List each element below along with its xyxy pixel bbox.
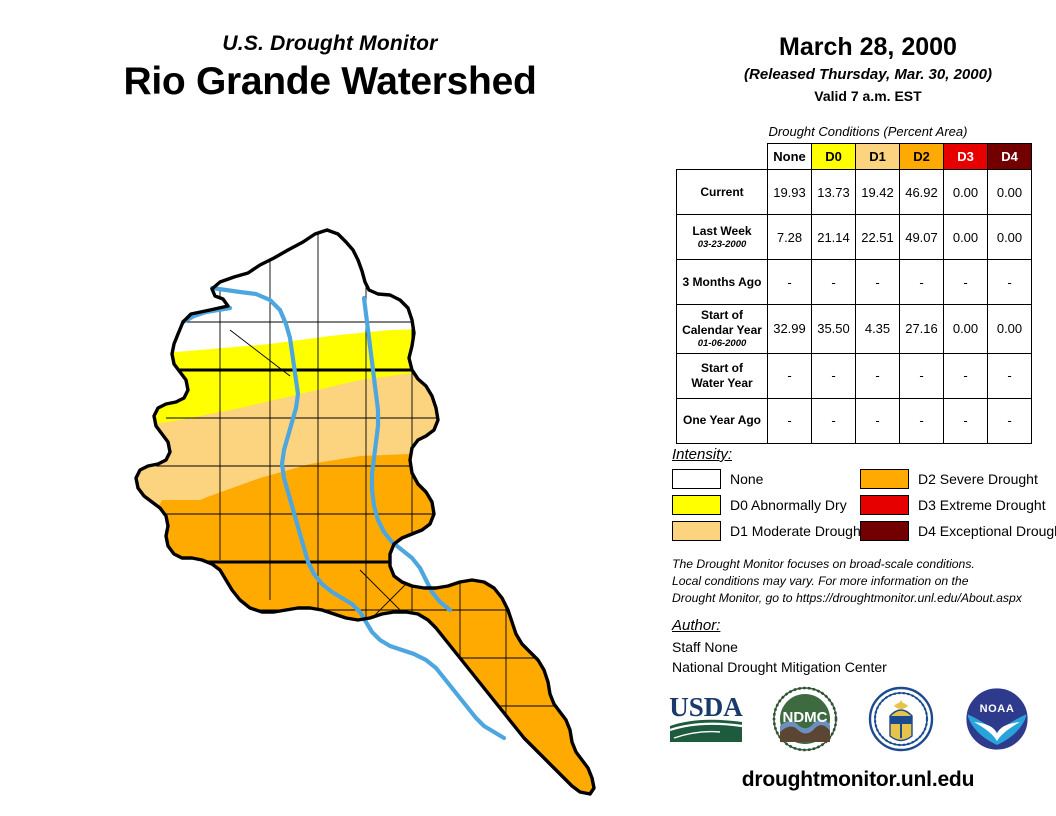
table-cell: 13.73	[812, 170, 856, 215]
legend-swatch	[860, 495, 909, 515]
table-cell: -	[768, 260, 812, 305]
site-url: droughtmonitor.unl.edu	[668, 768, 1048, 792]
table-cell: 35.50	[812, 305, 856, 354]
table-cell: 27.16	[900, 305, 944, 354]
row-label-line: One Year Ago	[679, 413, 765, 428]
author-organization: National Drought Mitigation Center	[672, 657, 887, 677]
row-label-line: Water Year	[679, 376, 765, 391]
table-cell: 0.00	[988, 305, 1032, 354]
row-label-line: Start of	[679, 308, 765, 323]
table-header-row: NoneD0D1D2D3D4	[677, 144, 1032, 170]
legend-label: None	[730, 471, 763, 487]
table-cell: 0.00	[988, 170, 1032, 215]
logo-strip: USDA NDMC	[668, 686, 1048, 758]
row-label-line: Calendar Year	[679, 323, 765, 338]
table-body: Current19.9313.7319.4246.920.000.00Last …	[677, 170, 1032, 444]
table-cell: -	[856, 260, 900, 305]
table-row-label: Last Week03-23-2000	[677, 215, 768, 260]
table-cell: 32.99	[768, 305, 812, 354]
disclaimer-line-3: Drought Monitor, go to https://droughtmo…	[672, 590, 1022, 607]
svg-text:NDMC: NDMC	[783, 709, 828, 726]
legend-swatch	[860, 469, 909, 489]
table-cell: 19.42	[856, 170, 900, 215]
table-cell: -	[988, 398, 1032, 443]
table-cell: -	[856, 353, 900, 398]
table-cell: -	[900, 398, 944, 443]
table-row-label: One Year Ago	[677, 398, 768, 443]
row-sublabel: 03-23-2000	[679, 239, 765, 251]
legend-label: D3 Extreme Drought	[918, 497, 1046, 513]
table-cell: -	[856, 398, 900, 443]
table-col-header-d0: D0	[812, 144, 856, 170]
table-cell: -	[768, 398, 812, 443]
table-row: Start ofCalendar Year01-06-200032.9935.5…	[677, 305, 1032, 354]
noaa-logo: NOAA	[964, 686, 1030, 757]
row-label-line: Start of	[679, 361, 765, 376]
table-cell: 0.00	[944, 305, 988, 354]
table-cell: -	[812, 398, 856, 443]
table-cell: -	[944, 398, 988, 443]
legend-swatch	[860, 521, 909, 541]
table-cell: 0.00	[944, 170, 988, 215]
table-cell: 19.93	[768, 170, 812, 215]
author-name: Staff None	[672, 637, 887, 657]
row-label-line: Current	[679, 185, 765, 200]
table-row: Current19.9313.7319.4246.920.000.00	[677, 170, 1032, 215]
usdc-seal-logo	[868, 686, 934, 757]
region-title: Rio Grande Watershed	[0, 60, 660, 104]
table-cell: -	[768, 353, 812, 398]
map-region-d1-west-notch	[74, 456, 168, 560]
ndmc-logo: NDMC	[772, 686, 838, 757]
program-title: U.S. Drought Monitor	[0, 32, 660, 56]
usda-logo: USDA	[668, 686, 744, 753]
table-cell: -	[944, 353, 988, 398]
legend-item: D1 Moderate Drought	[672, 520, 865, 542]
legend-item: D4 Exceptional Drought	[860, 520, 1056, 542]
legend-label: D2 Severe Drought	[918, 471, 1038, 487]
legend-item: D3 Extreme Drought	[860, 494, 1056, 516]
table-cell: 0.00	[988, 215, 1032, 260]
table-cell: -	[944, 260, 988, 305]
legend-swatch	[672, 469, 721, 489]
drought-map	[60, 130, 660, 810]
intensity-heading: Intensity:	[672, 446, 732, 463]
release-date: (Released Thursday, Mar. 30, 2000)	[680, 66, 1056, 83]
table-cell: 0.00	[944, 215, 988, 260]
table-col-header-d4: D4	[988, 144, 1032, 170]
legend-item: D0 Abnormally Dry	[672, 494, 865, 516]
table-col-header-d3: D3	[944, 144, 988, 170]
table-cell: 49.07	[900, 215, 944, 260]
table-cell: -	[900, 260, 944, 305]
table-cell: -	[988, 353, 1032, 398]
svg-text:USDA: USDA	[669, 692, 743, 722]
map-region-d2	[60, 454, 660, 810]
table-cell: -	[812, 353, 856, 398]
author-block: Staff None National Drought Mitigation C…	[672, 637, 887, 677]
svg-text:NOAA: NOAA	[980, 703, 1015, 715]
legend-label: D4 Exceptional Drought	[918, 523, 1056, 539]
table-row: Start ofWater Year------	[677, 353, 1032, 398]
table-row-label: Current	[677, 170, 768, 215]
table-row-label: 3 Months Ago	[677, 260, 768, 305]
table-row: 3 Months Ago------	[677, 260, 1032, 305]
table-corner-cell	[677, 144, 768, 170]
table-cell: 7.28	[768, 215, 812, 260]
row-label-line: Last Week	[679, 224, 765, 239]
table-col-header-d2: D2	[900, 144, 944, 170]
table-row-label: Start ofWater Year	[677, 353, 768, 398]
map-date: March 28, 2000	[680, 33, 1056, 62]
table-col-header-d1: D1	[856, 144, 900, 170]
disclaimer-text: The Drought Monitor focuses on broad-sca…	[672, 556, 1022, 606]
table-cell: 22.51	[856, 215, 900, 260]
drought-conditions-table: NoneD0D1D2D3D4 Current19.9313.7319.4246.…	[676, 143, 1032, 444]
valid-time: Valid 7 a.m. EST	[680, 88, 1056, 104]
table-cell: -	[900, 353, 944, 398]
table-cell: 46.92	[900, 170, 944, 215]
table-cell: -	[812, 260, 856, 305]
legend-item: D2 Severe Drought	[860, 468, 1056, 490]
legend-item: None	[672, 468, 865, 490]
disclaimer-line-2: Local conditions may vary. For more info…	[672, 573, 1022, 590]
author-heading: Author:	[672, 617, 720, 634]
legend-column-left: NoneD0 Abnormally DryD1 Moderate Drought	[672, 468, 865, 546]
table-cell: -	[988, 260, 1032, 305]
legend-label: D0 Abnormally Dry	[730, 497, 847, 513]
legend-label: D1 Moderate Drought	[730, 523, 865, 539]
disclaimer-line-1: The Drought Monitor focuses on broad-sca…	[672, 556, 1022, 573]
legend-swatch	[672, 495, 721, 515]
table-cell: 4.35	[856, 305, 900, 354]
row-label-line: 3 Months Ago	[679, 275, 765, 290]
table-col-header-none: None	[768, 144, 812, 170]
table-caption: Drought Conditions (Percent Area)	[680, 124, 1056, 139]
table-row: Last Week03-23-20007.2821.1422.5149.070.…	[677, 215, 1032, 260]
table-cell: 21.14	[812, 215, 856, 260]
table-row-label: Start ofCalendar Year01-06-2000	[677, 305, 768, 354]
legend-swatch	[672, 521, 721, 541]
row-sublabel: 01-06-2000	[679, 338, 765, 350]
table-row: One Year Ago------	[677, 398, 1032, 443]
legend-column-right: D2 Severe DroughtD3 Extreme DroughtD4 Ex…	[860, 468, 1056, 546]
